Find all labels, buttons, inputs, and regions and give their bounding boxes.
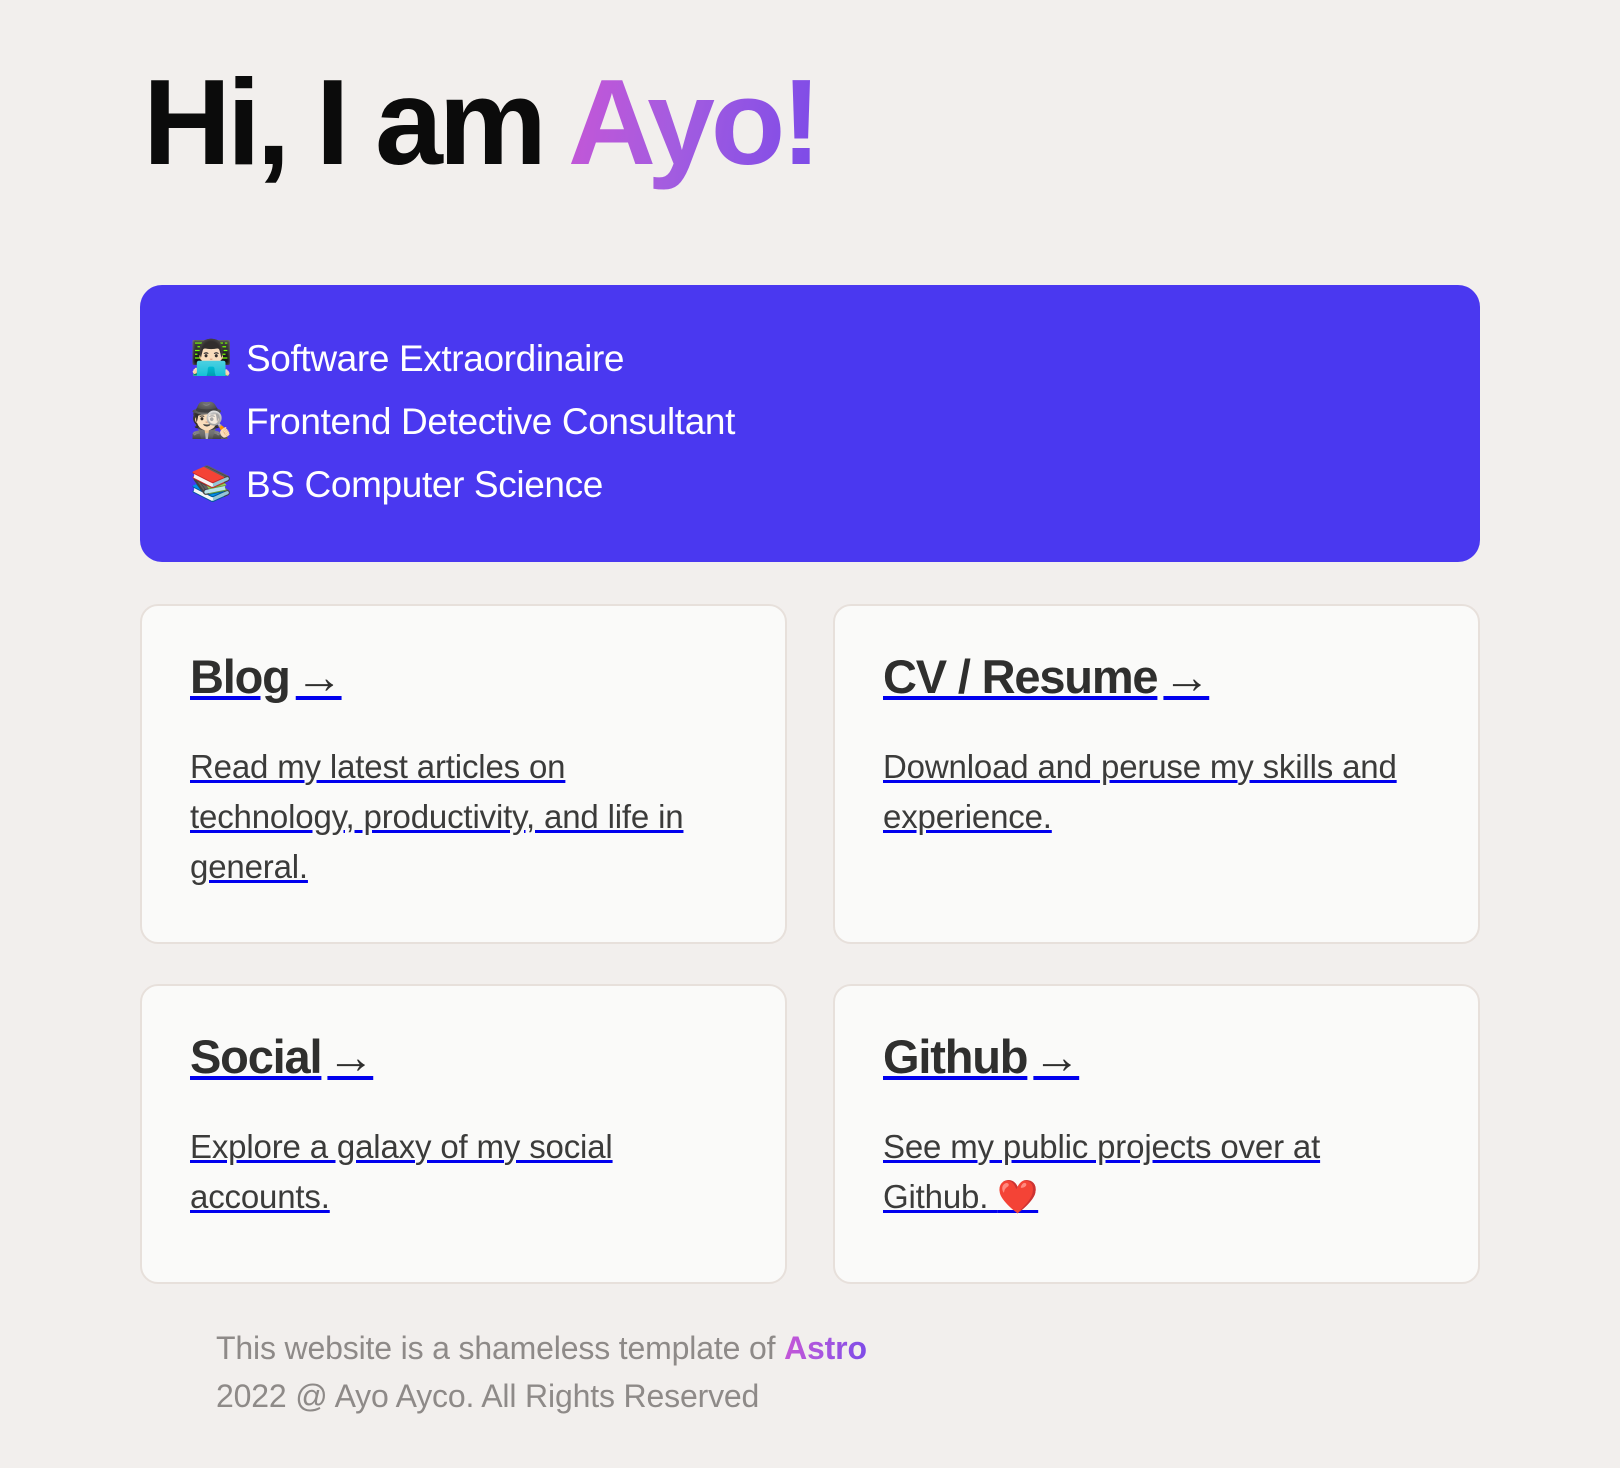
link-card-grid: Blog→ Read my latest articles on technol…	[140, 604, 1480, 1284]
site-footer: This website is a shameless template of …	[140, 1324, 1480, 1420]
footer-credit-text: This website is a shameless template of	[216, 1330, 784, 1366]
arrow-right-icon: →	[1157, 650, 1209, 703]
card-title-github: Github→	[883, 1030, 1430, 1084]
card-cv-resume[interactable]: CV / Resume→ Download and peruse my skil…	[833, 604, 1480, 944]
detective-emoji: 🕵🏻	[190, 404, 232, 438]
arrow-right-icon: →	[1027, 1030, 1079, 1083]
card-title-cv-resume: CV / Resume→	[883, 650, 1430, 704]
page-root: Hi, I am Ayo! 👨🏻‍💻 Software Extraordinai…	[0, 0, 1620, 1468]
list-item: 👨🏻‍💻 Software Extraordinaire	[190, 327, 1430, 390]
arrow-right-icon: →	[321, 1030, 373, 1083]
card-social[interactable]: Social→ Explore a galaxy of my social ac…	[140, 984, 787, 1284]
card-blog[interactable]: Blog→ Read my latest articles on technol…	[140, 604, 787, 944]
astro-link[interactable]: Astro	[784, 1330, 867, 1366]
footer-credit-line: This website is a shameless template of …	[216, 1324, 1480, 1372]
highlights-list: 👨🏻‍💻 Software Extraordinaire 🕵🏻 Frontend…	[190, 327, 1430, 516]
card-title-blog: Blog→	[190, 650, 737, 704]
footer-copyright: 2022 @ Ayo Ayco. All Rights Reserved	[216, 1372, 1480, 1420]
content-container: Hi, I am Ayo! 👨🏻‍💻 Software Extraordinai…	[140, 0, 1480, 1420]
card-body-github: See my public projects over at Github. ❤…	[883, 1122, 1430, 1222]
card-title-social: Social→	[190, 1030, 737, 1084]
highlights-panel: 👨🏻‍💻 Software Extraordinaire 🕵🏻 Frontend…	[140, 285, 1480, 562]
card-body-social: Explore a galaxy of my social accounts.	[190, 1122, 737, 1222]
red-heart-emoji: ❤️	[997, 1177, 1038, 1216]
hero-greeting-text: Hi, I am	[143, 54, 568, 190]
card-title-text: CV / Resume	[883, 650, 1157, 703]
hero-name-accent: Ayo!	[568, 54, 818, 190]
card-github[interactable]: Github→ See my public projects over at G…	[833, 984, 1480, 1284]
highlight-label: BS Computer Science	[246, 466, 603, 503]
highlight-label: Software Extraordinaire	[246, 340, 624, 377]
list-item: 📚 BS Computer Science	[190, 453, 1430, 516]
highlight-label: Frontend Detective Consultant	[246, 403, 735, 440]
card-body-cv-resume: Download and peruse my skills and experi…	[883, 742, 1430, 842]
card-body-blog: Read my latest articles on technology, p…	[190, 742, 737, 892]
card-title-text: Social	[190, 1030, 321, 1083]
books-emoji: 📚	[190, 467, 232, 501]
page-title: Hi, I am Ayo!	[143, 54, 1480, 191]
card-title-text: Github	[883, 1030, 1027, 1083]
list-item: 🕵🏻 Frontend Detective Consultant	[190, 390, 1430, 453]
man-technologist-emoji: 👨🏻‍💻	[190, 341, 232, 375]
card-body-text: See my public projects over at Github.	[883, 1128, 1320, 1215]
card-title-text: Blog	[190, 650, 290, 703]
arrow-right-icon: →	[290, 650, 342, 703]
